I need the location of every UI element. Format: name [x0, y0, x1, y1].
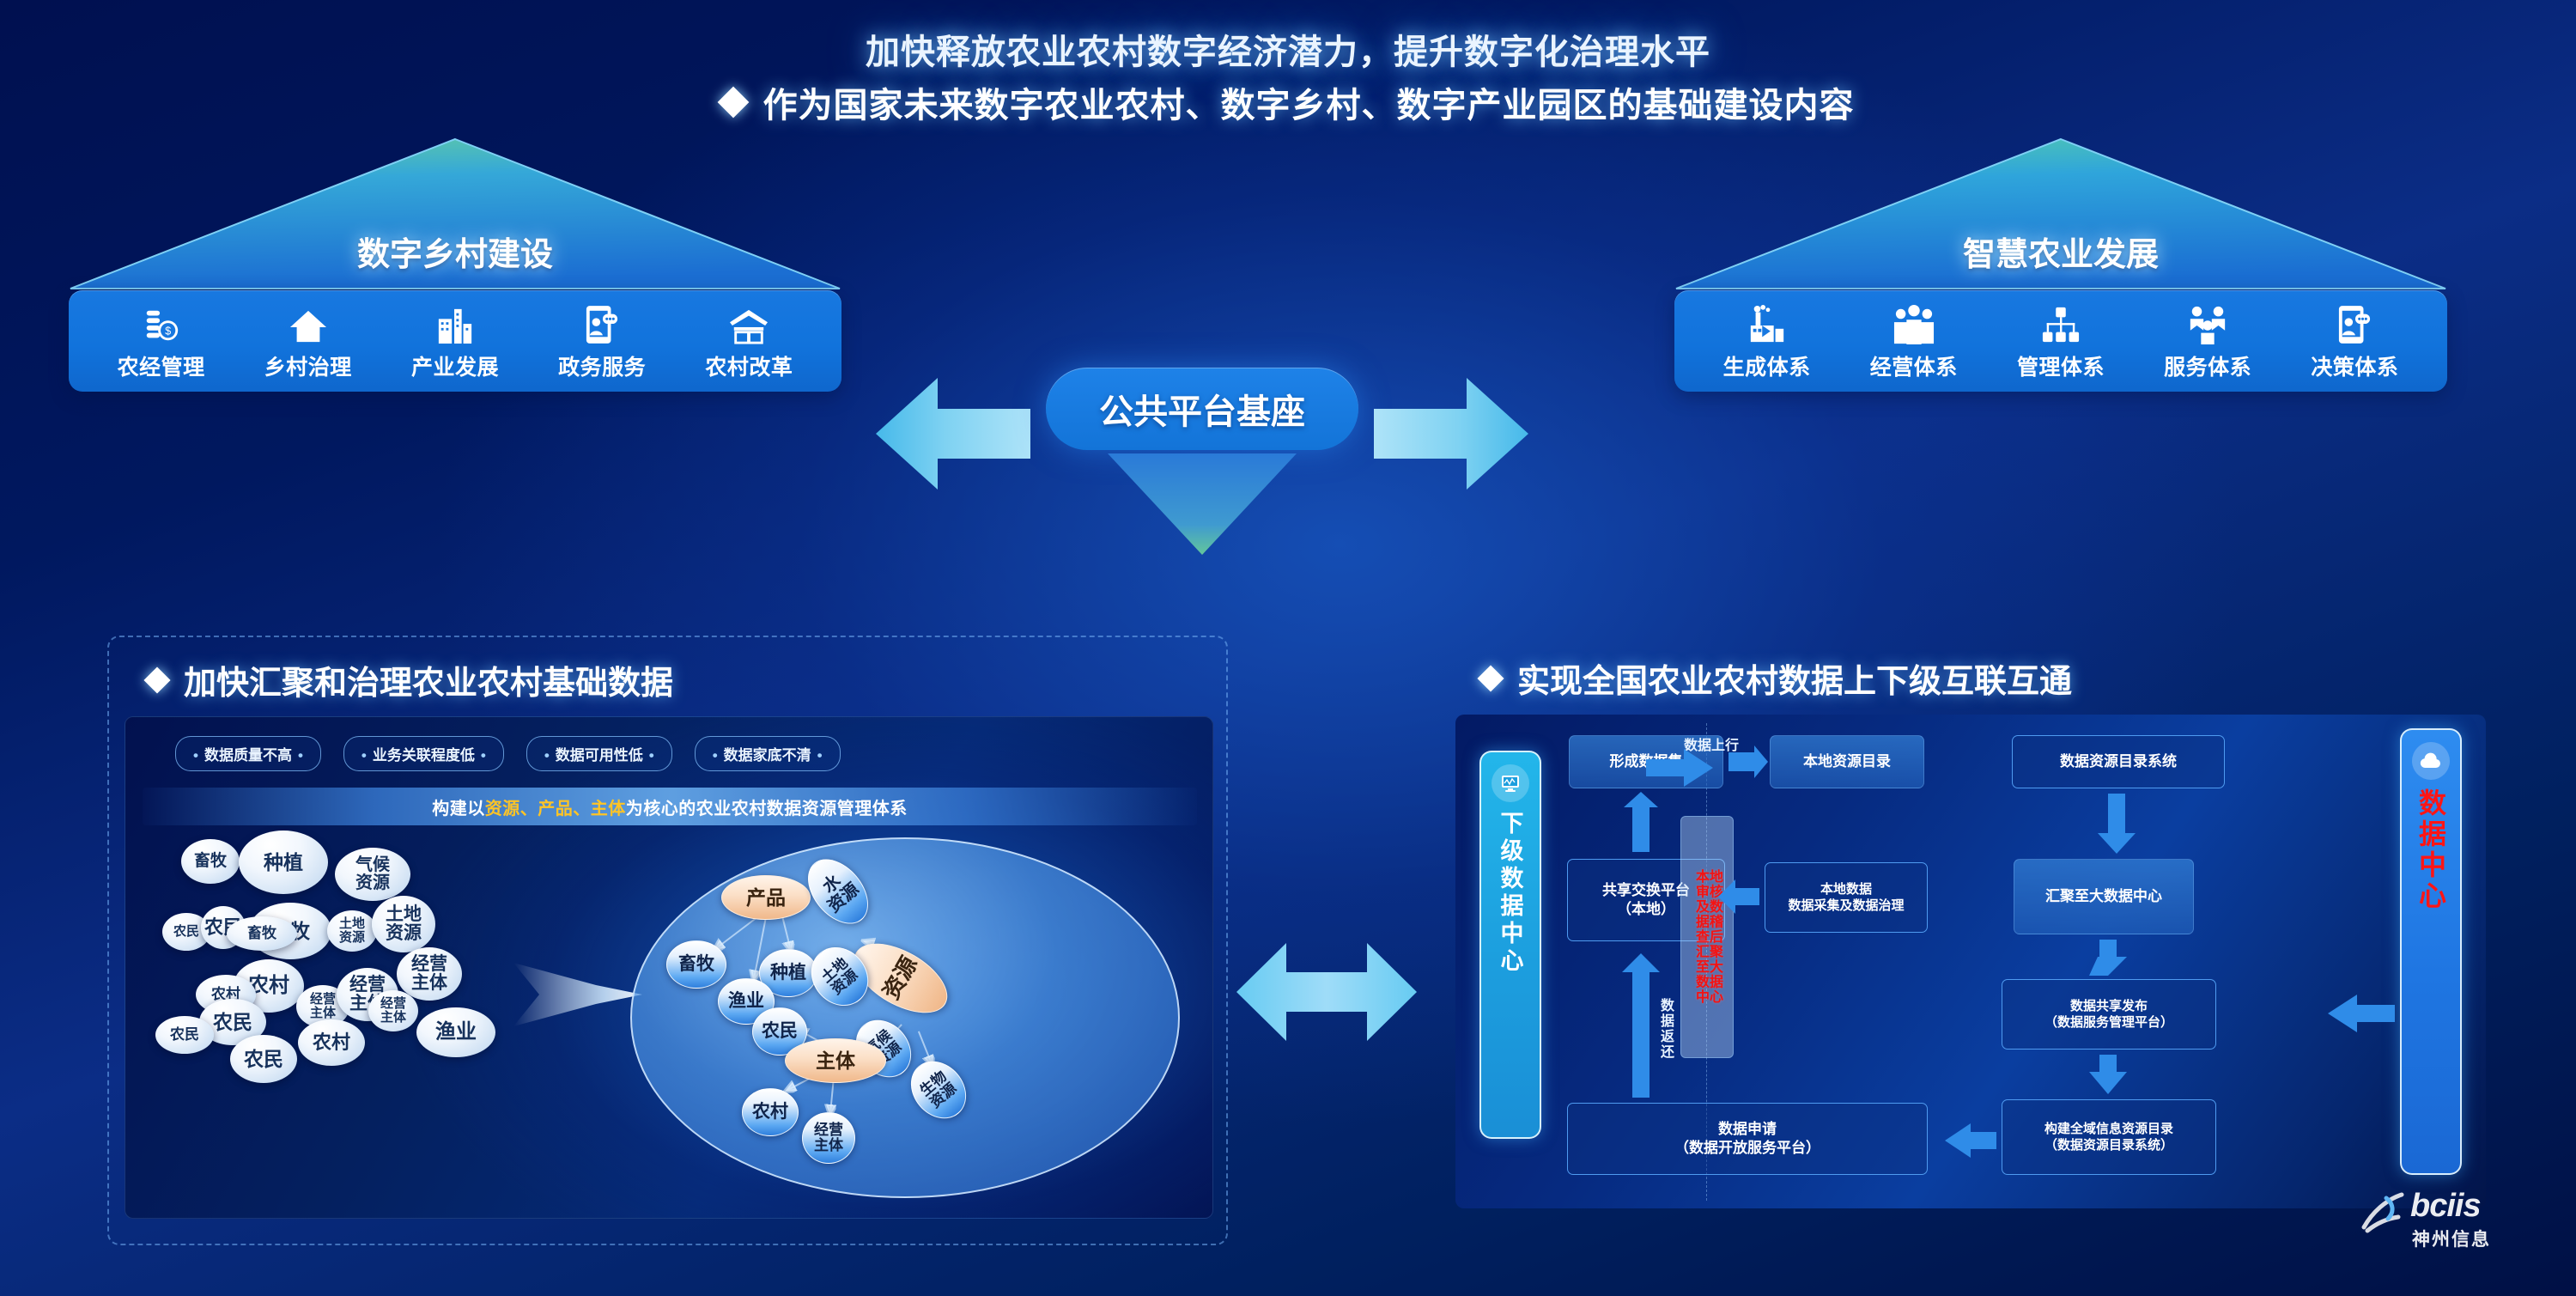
feature-fuwu-tixi[interactable]: 服务体系 — [2143, 301, 2272, 381]
slide-canvas: 加快释放农业农村数字经济潜力，提升数字化治理水平 作为国家未来数字农业农村、数字… — [0, 0, 2576, 1296]
roof-shape: 智慧农业发展 — [1674, 137, 2447, 290]
feature-label: 决策体系 — [2290, 350, 2419, 381]
pillar-base: 生成体系 经营体系 — [1674, 290, 2447, 392]
feature-xiangcun-zhili[interactable]: 乡村治理 — [244, 301, 373, 381]
people-group-icon — [1850, 301, 1978, 345]
flow-box-publish[interactable]: 数据共享发布 （数据服务管理平台） — [2002, 979, 2216, 1050]
feature-label: 乡村治理 — [244, 350, 373, 381]
audit-note-right: 地核数稽后聚大据心 — [1707, 869, 1721, 1005]
feature-nongjing-guanli[interactable]: $ 农经管理 — [97, 301, 226, 381]
feature-label: 经营体系 — [1850, 350, 1978, 381]
house-icon — [244, 301, 373, 345]
flow-box-global-catalog[interactable]: 构建全域信息资源目录 （数据资源目录系统） — [2002, 1099, 2216, 1175]
flow-box-aggregate[interactable]: 汇聚至大数据中心 — [2014, 859, 2194, 934]
feature-label: 农村改革 — [684, 350, 813, 381]
data-center-column[interactable]: 数据中心 — [2400, 728, 2462, 1175]
platform-base-card[interactable]: 公共平台基座 — [1046, 368, 1358, 450]
problem-pill-row: 数据质量不高 业务关联程度低 数据可用性低 数据家底不清 — [175, 736, 841, 771]
arrow-down-icon — [1108, 453, 1297, 557]
problem-pill: 数据可用性低 — [526, 736, 672, 771]
mobile-service-icon — [538, 301, 666, 345]
section-heading: 加快汇聚和治理农业农村基础数据 — [109, 637, 1226, 703]
problem-pill: 业务关联程度低 — [343, 736, 504, 771]
feature-juece-tixi[interactable]: 决策体系 — [2290, 301, 2419, 381]
subordinate-data-center-column[interactable]: 下级数据中心 — [1479, 751, 1541, 1139]
flow-box-apply[interactable]: 数据申请 （数据开放服务平台） — [1567, 1103, 1928, 1175]
label-data-upload: 数据上行 — [1684, 733, 1739, 754]
feature-label: 生成体系 — [1703, 350, 1832, 381]
feature-jingying-tixi[interactable]: 经营体系 — [1850, 301, 1978, 381]
brand-logo: bciis 神州信息 — [2357, 1181, 2555, 1263]
relation-links — [632, 839, 1178, 1196]
data-bubble: 畜牧 — [227, 916, 297, 951]
diamond-bullet-icon — [717, 87, 749, 119]
model-node: 畜牧 — [666, 940, 726, 989]
banner-suffix: 为核心的农业农村数据资源管理体系 — [626, 794, 908, 819]
flow-box-catalog-system[interactable]: 数据资源目录系统 — [2012, 735, 2225, 788]
pillar-title: 数字乡村建设 — [69, 228, 841, 275]
cloud-icon — [2412, 742, 2450, 780]
scattered-data-cluster: 畜牧种植气候 资源畜牧土地 资源土地 资源农民农民畜牧经营 主体农村农村经营 主… — [141, 829, 519, 1112]
mobile-decision-icon — [2290, 301, 2419, 345]
pillar-title: 智慧农业发展 — [1674, 228, 2447, 275]
banner-highlight: 资源、产品、主体 — [485, 794, 626, 819]
feature-chanye-fazhan[interactable]: 产业发展 — [391, 301, 519, 381]
diamond-bullet-icon — [143, 666, 170, 693]
data-bubble: 农民 — [155, 1016, 214, 1054]
buildings-icon — [391, 301, 519, 345]
audit-note-left: 本审及据查汇至数中 — [1693, 869, 1707, 1005]
flow-box-local-catalog[interactable]: 本地资源目录 — [1770, 735, 1924, 788]
arrow-left-icon — [876, 369, 1030, 498]
team-service-icon — [2143, 301, 2272, 345]
gate-icon — [684, 301, 813, 345]
data-bubble: 气候 资源 — [335, 848, 410, 901]
feature-label: 管理体系 — [1996, 350, 2125, 381]
data-center-label: 数据中心 — [2411, 788, 2451, 912]
feature-label: 产业发展 — [391, 350, 519, 381]
data-bubble: 农村 — [298, 1019, 365, 1066]
bidirectional-arrow-icon — [1236, 928, 1417, 1056]
subtitle-row: 作为国家未来数字农业农村、数字乡村、数字产业园区的基础建设内容 — [0, 77, 2576, 127]
data-bubble: 农民 — [230, 1035, 297, 1083]
audit-note-card: 本审及据查汇至数中 地核数稽后聚大据心 — [1680, 816, 1734, 1058]
section-heading: 实现全国农业农村数据上下级互联互通 — [1443, 636, 2499, 702]
data-governance-board: 数据质量不高 业务关联程度低 数据可用性低 数据家底不清 构建以资源、产品、主体… — [125, 716, 1213, 1219]
feature-nongcun-gaige[interactable]: 农村改革 — [684, 301, 813, 381]
svg-text:$: $ — [165, 326, 171, 338]
pillar-smart-agriculture: 智慧农业发展 生成体系 — [1674, 137, 2447, 392]
dataflow-diagram: 下级数据中心 数据中心 形成数据集 本地资源目录 数据资源目录系统 共享交换平台… — [1455, 715, 2486, 1208]
diamond-bullet-icon — [1477, 665, 1504, 691]
data-bubble: 种植 — [239, 831, 328, 894]
feature-zhengwu-fuwu[interactable]: 政务服务 — [538, 301, 666, 381]
data-bubble: 土地 资源 — [327, 910, 377, 952]
logo-chinese-name: 神州信息 — [2412, 1226, 2491, 1251]
model-node: 农村 — [742, 1088, 799, 1136]
subordinate-center-label: 下级数据中心 — [1494, 811, 1528, 976]
logo-wordmark: bciis — [2410, 1188, 2481, 1225]
logo-mark-icon — [2357, 1186, 2412, 1241]
label-data-return: 数据返还 — [1655, 998, 1675, 1060]
roof-shape: 数字乡村建设 — [69, 137, 841, 290]
section-heading-text: 加快汇聚和治理农业农村基础数据 — [184, 656, 673, 703]
page-subtitle: 作为国家未来数字农业农村、数字乡村、数字产业园区的基础建设内容 — [763, 77, 1855, 127]
page-title: 加快释放农业农村数字经济潜力，提升数字化治理水平 — [0, 24, 2576, 74]
pillar-base: $ 农经管理 乡村治理 — [69, 290, 841, 392]
model-node: 经营 主体 — [802, 1112, 855, 1164]
feature-label: 政务服务 — [538, 350, 666, 381]
data-bubble: 渔业 — [416, 1007, 495, 1057]
money-stack-icon: $ — [97, 301, 226, 345]
data-bubble: 经营 主体 — [368, 990, 418, 1031]
factory-icon — [1703, 301, 1832, 345]
feature-guanli-tixi[interactable]: 管理体系 — [1996, 301, 2125, 381]
arrow-right-icon — [1374, 369, 1528, 498]
model-node: 主体 — [785, 1038, 886, 1083]
feature-label: 服务体系 — [2143, 350, 2272, 381]
core-data-model-oval: 产品水 资源资源畜牧种植土地 资源渔业农民气候 资源主体生物 资源农村经营 主体 — [630, 837, 1180, 1198]
section-aggregate-data: 加快汇聚和治理农业农村基础数据 数据质量不高 业务关联程度低 数据可用性低 数据… — [107, 636, 1228, 1245]
model-node: 产品 — [721, 875, 811, 920]
banner-prefix: 构建以 — [432, 794, 485, 819]
section-interconnect: 实现全国农业农村数据上下级互联互通 下级数据中心 — [1443, 636, 2499, 1245]
platform-label: 公共平台基座 — [1099, 384, 1305, 434]
flow-box-local-data[interactable]: 本地数据 数据采集及数据治理 — [1765, 862, 1928, 933]
data-bubble: 土地 资源 — [372, 896, 435, 952]
core-banner: 构建以资源、产品、主体为核心的农业农村数据资源管理体系 — [143, 788, 1197, 825]
problem-pill: 数据家底不清 — [695, 736, 841, 771]
monitor-analytics-icon — [1492, 764, 1529, 802]
section-heading-text: 实现全国农业农村数据上下级互联互通 — [1517, 654, 2072, 702]
org-chart-icon — [1996, 301, 2125, 345]
model-node: 生物 资源 — [900, 1050, 978, 1129]
problem-pill: 数据质量不高 — [175, 736, 321, 771]
pillar-digital-village: 数字乡村建设 $ 农经管理 — [69, 137, 841, 392]
feature-label: 农经管理 — [97, 350, 226, 381]
feature-shengcheng-tixi[interactable]: 生成体系 — [1703, 301, 1832, 381]
data-bubble: 畜牧 — [181, 839, 240, 884]
funnel-arrow-icon — [513, 947, 642, 1042]
